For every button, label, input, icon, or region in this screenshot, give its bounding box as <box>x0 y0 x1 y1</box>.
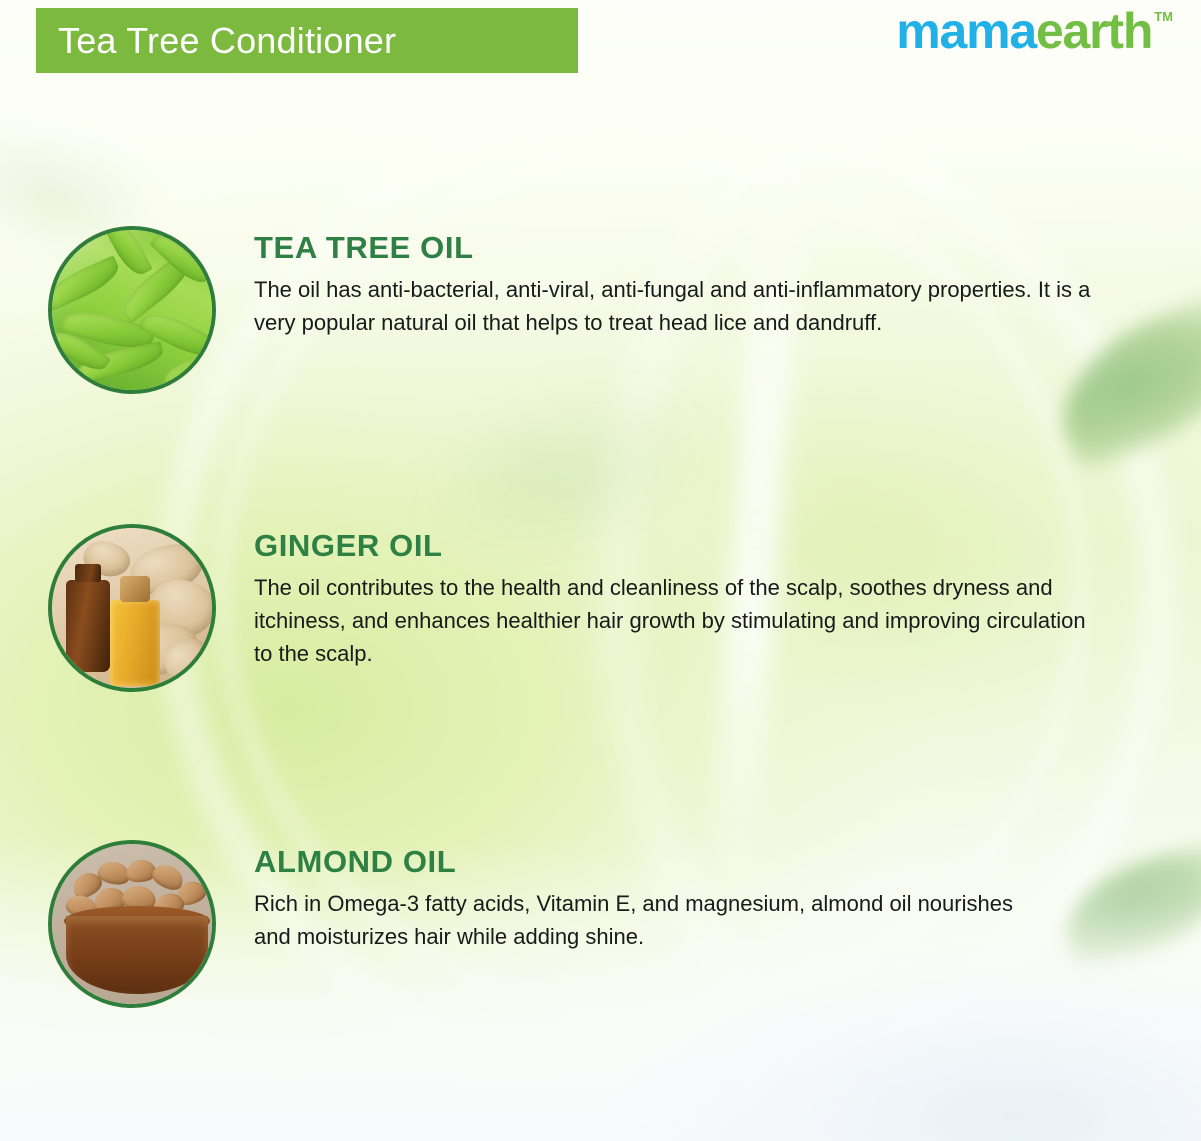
ingredient-title: TEA TREE OIL <box>254 232 1094 265</box>
brand-logo: mama earth TM <box>896 6 1173 56</box>
ingredient-row: TEA TREE OIL The oil has anti-bacterial,… <box>48 226 1094 394</box>
ingredient-title: ALMOND OIL <box>254 846 1044 879</box>
ingredient-copy: TEA TREE OIL The oil has anti-bacterial,… <box>254 226 1094 339</box>
ginger-oil-bottles-photo <box>48 524 216 692</box>
logo-text-mama: mama <box>896 6 1036 56</box>
tea-tree-leaves-photo <box>48 226 216 394</box>
ingredient-copy: ALMOND OIL Rich in Omega-3 fatty acids, … <box>254 840 1044 953</box>
ingredient-description: The oil contributes to the health and cl… <box>254 571 1109 670</box>
ingredient-row: GINGER OIL The oil contributes to the he… <box>48 524 1109 692</box>
ingredient-title: GINGER OIL <box>254 530 1109 563</box>
ingredient-description: The oil has anti-bacterial, anti-viral, … <box>254 273 1094 339</box>
almonds-in-wooden-bowl-photo <box>48 840 216 1008</box>
product-title-banner: Tea Tree Conditioner <box>36 8 578 73</box>
logo-text-earth: earth <box>1036 6 1152 56</box>
trademark-icon: TM <box>1154 10 1173 23</box>
ingredient-infographic: Tea Tree Conditioner mama earth TM TEA T… <box>0 0 1201 1141</box>
ingredient-description: Rich in Omega-3 fatty acids, Vitamin E, … <box>254 887 1044 953</box>
ingredient-copy: GINGER OIL The oil contributes to the he… <box>254 524 1109 670</box>
ingredient-row: ALMOND OIL Rich in Omega-3 fatty acids, … <box>48 840 1044 1008</box>
page-title: Tea Tree Conditioner <box>58 23 396 59</box>
